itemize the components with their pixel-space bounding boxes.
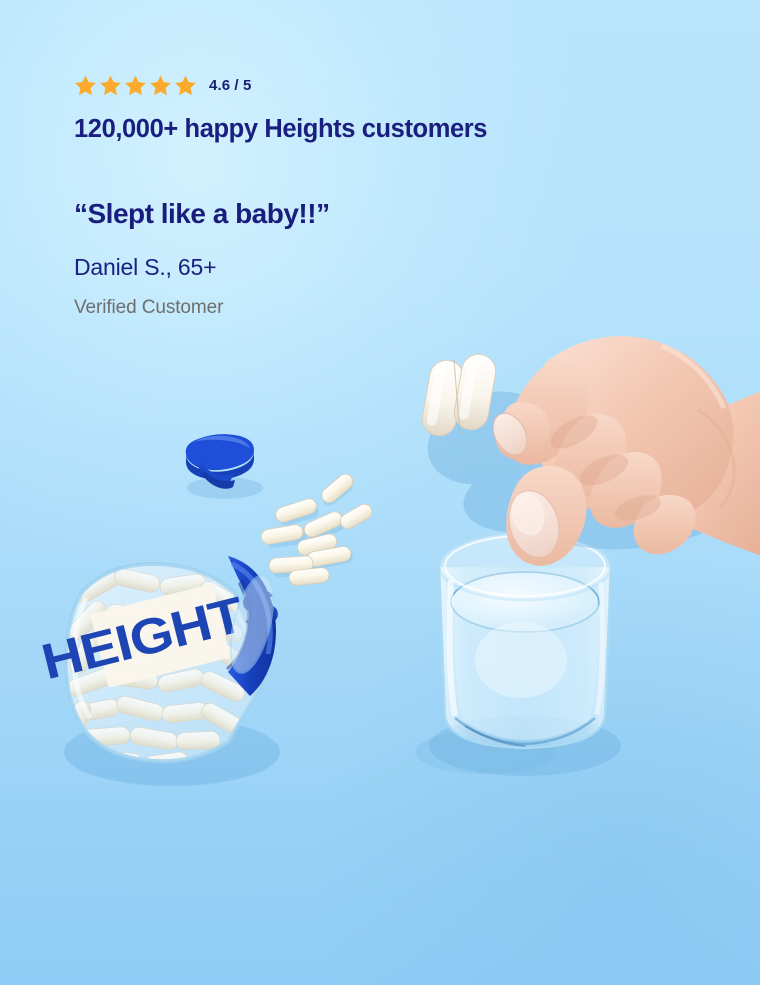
supplement-jar: HEIGHTS xyxy=(52,520,342,785)
star-rating xyxy=(74,74,197,97)
hand-holding-capsules xyxy=(398,318,760,618)
testimonial-author: Daniel S., 65+ xyxy=(74,254,694,281)
star-icon xyxy=(149,74,172,97)
photo-stage: 4.6 / 5 120,000+ happy Heights customers… xyxy=(0,0,760,985)
star-icon xyxy=(174,74,197,97)
headline: 120,000+ happy Heights customers xyxy=(74,115,694,144)
star-icon xyxy=(124,74,147,97)
rating-value: 4.6 / 5 xyxy=(209,76,251,94)
rating-row: 4.6 / 5 xyxy=(74,72,694,98)
star-icon xyxy=(74,74,97,97)
testimonial-copy: 4.6 / 5 120,000+ happy Heights customers… xyxy=(74,72,694,319)
star-icon xyxy=(99,74,122,97)
verified-customer-label: Verified Customer xyxy=(74,297,694,319)
testimonial-quote: “Slept like a baby!!” xyxy=(74,199,694,230)
